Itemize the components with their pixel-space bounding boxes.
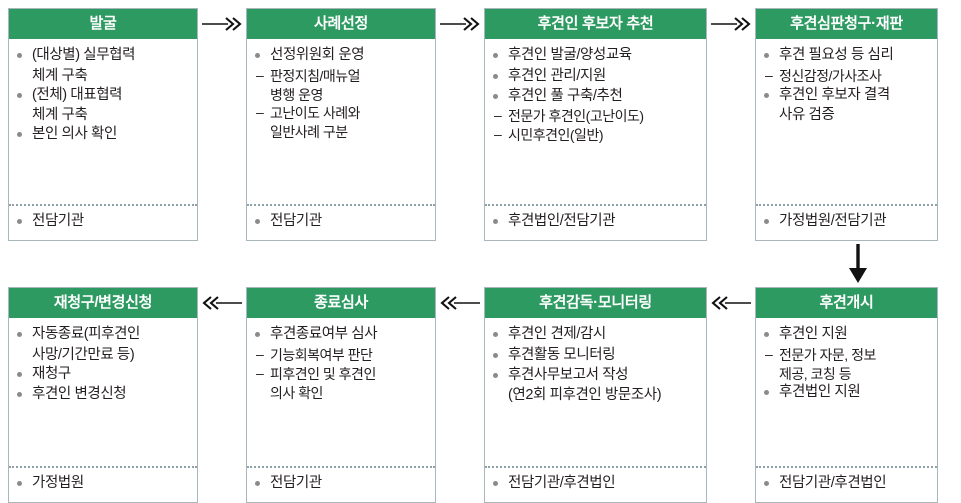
sub-list-item-label: 의사 확인: [270, 385, 323, 401]
responsible-agency-label: 전담기관/후견법인: [508, 475, 615, 491]
list-item-label: 체계 구축: [32, 107, 87, 123]
bullet-dot-icon: [764, 390, 769, 395]
list-item: 전담기관/후견법인: [491, 474, 700, 493]
list-item: 전담기관: [15, 212, 191, 231]
step-item-list-4: 후견 필요성 등 심리 –정신감정/가사조사 후견인 후보자 결격 사유 검증: [762, 46, 931, 125]
step-item-list-5: 후견인 지원 –전문가 자문, 정보 제공, 코칭 등 후견법인 지원: [762, 325, 931, 403]
list-item: 후견종료여부 심사: [253, 325, 429, 344]
sub-list-item-continuation: 의사 확인: [253, 384, 429, 402]
sub-list-item-continuation: 병행 운영: [253, 86, 429, 104]
sub-list-item-label: 병행 운영: [270, 87, 323, 103]
responsible-agency-label: 전담기관: [270, 475, 322, 491]
sub-list-item: –피후견인 및 후견인: [253, 365, 429, 383]
connector-arrow-2-3: [436, 8, 484, 39]
step-footer-7: 전담기관: [247, 466, 435, 501]
bullet-dot-icon: [255, 332, 260, 337]
step-body-8: 자동종료(피후견인 사망/기간만료 등) 재청구 후견인 변경신청: [9, 318, 197, 466]
step-footer-list-3: 후견법인/전담기관: [491, 212, 700, 231]
process-step-card-4[interactable]: 후견심판청구·재판 후견 필요성 등 심리 –정신감정/가사조사 후견인 후보자…: [755, 8, 938, 241]
sub-list-item-label: 전문가 자문, 정보: [779, 347, 876, 363]
list-item-label: 후견법인 지원: [779, 384, 860, 400]
list-item: 후견인 변경신청: [15, 385, 191, 404]
bullet-dot-icon: [493, 53, 498, 58]
list-item-label: 후견인 지원: [779, 326, 847, 342]
list-item-continuation: 체계 구축: [15, 106, 191, 125]
list-item: 가정법원: [15, 474, 191, 493]
dash-icon: –: [256, 345, 263, 363]
double-chevron-left-icon: [440, 295, 480, 311]
process-step-card-3[interactable]: 후견인 후보자 추천 후견인 발굴/양성교육 후견인 관리/지원 후견인 풀 구…: [484, 8, 707, 241]
list-item: 후견인 견제/감시: [491, 325, 700, 344]
list-item: 후견활동 모니터링: [491, 346, 700, 365]
list-item: 후견인 지원: [762, 325, 931, 344]
step-footer-5: 전담기관/후견법인: [756, 466, 937, 501]
list-item-label: 후견인 후보자 결격: [779, 87, 890, 103]
step-body-1: (대상별) 실무협력 체계 구축 (전체) 대표협력 체계 구축 본인 의사 확…: [9, 39, 197, 204]
list-item-label: (전체) 대표협력: [32, 87, 122, 103]
step-header-8: 재청구/변경신청: [9, 288, 197, 318]
list-item: 후견사무보고서 작성: [491, 366, 700, 385]
sub-list-item: –전문가 후견인(고난이도): [491, 107, 700, 125]
step-body-2: 선정위원회 운영 –판정지침/매뉴얼 병행 운영 –고난이도 사례와 일반사례 …: [247, 39, 435, 204]
bullet-dot-icon: [493, 373, 498, 378]
bullet-dot-icon: [17, 93, 22, 98]
bullet-dot-icon: [764, 481, 769, 486]
list-item-label: 본인 의사 확인: [32, 126, 117, 142]
bullet-dot-icon: [764, 93, 769, 98]
sub-list-item-continuation: 일반사례 구분: [253, 123, 429, 141]
bullet-dot-icon: [17, 219, 22, 224]
double-chevron-right-icon: [440, 16, 480, 32]
connector-arrow-6-7: [436, 287, 484, 318]
dash-icon: –: [494, 106, 501, 124]
sub-list-item: –전문가 자문, 정보: [762, 346, 931, 364]
sub-list-item-continuation: 제공, 코칭 등: [762, 365, 931, 383]
list-item: 선정위원회 운영: [253, 46, 429, 65]
list-item: (대상별) 실무협력: [15, 46, 191, 65]
step-item-list-8: 자동종료(피후견인 사망/기간만료 등) 재청구 후견인 변경신청: [15, 325, 191, 405]
step-header-6: 후견감독·모니터링: [485, 288, 706, 318]
list-item-label: 후견사무보고서 작성: [508, 367, 628, 383]
process-row-top: 발굴 (대상별) 실무협력 체계 구축 (전체) 대표협력 체계 구축 본인 의…: [0, 8, 961, 241]
process-step-card-5[interactable]: 후견개시 후견인 지원 –전문가 자문, 정보 제공, 코칭 등 후견법인 지원…: [755, 287, 938, 503]
step-header-5: 후견개시: [756, 288, 937, 318]
sub-list-item-label: 고난이도 사례와: [270, 105, 360, 121]
step-footer-list-8: 가정법원: [15, 474, 191, 493]
process-step-card-1[interactable]: 발굴 (대상별) 실무협력 체계 구축 (전체) 대표협력 체계 구축 본인 의…: [8, 8, 198, 241]
step-footer-6: 전담기관/후견법인: [485, 466, 706, 501]
list-item-label: 자동종료(피후견인: [32, 326, 140, 342]
sub-list-item: –고난이도 사례와: [253, 104, 429, 122]
responsible-agency-label: 전담기관: [32, 213, 84, 229]
list-item: 후견법인 지원: [762, 383, 931, 402]
step-footer-list-6: 전담기관/후견법인: [491, 474, 700, 493]
list-item-label: 후견인 관리/지원: [508, 68, 606, 84]
step-item-list-6: 후견인 견제/감시 후견활동 모니터링 후견사무보고서 작성 (연2회 피후견인…: [491, 325, 700, 405]
connector-arrow-1-2: [198, 8, 246, 39]
bullet-dot-icon: [255, 53, 260, 58]
bullet-dot-icon: [493, 74, 498, 79]
step-item-list-2: 선정위원회 운영 –판정지침/매뉴얼 병행 운영 –고난이도 사례와 일반사례 …: [253, 46, 429, 141]
connector-arrow-7-8: [198, 287, 246, 318]
bullet-dot-icon: [17, 332, 22, 337]
list-item: 후견 필요성 등 심리: [762, 46, 931, 65]
process-step-card-8[interactable]: 재청구/변경신청 자동종료(피후견인 사망/기간만료 등) 재청구 후견인 변경…: [8, 287, 198, 503]
list-item-label: 후견인 풀 구축/추천: [508, 88, 622, 104]
step-footer-2: 전담기관: [247, 204, 435, 239]
dash-icon: –: [256, 66, 263, 84]
bullet-dot-icon: [493, 94, 498, 99]
list-item-label: 사망/기간만료 등): [32, 347, 134, 363]
list-item-continuation: 사유 검증: [762, 106, 931, 125]
list-item-continuation: 사망/기간만료 등): [15, 346, 191, 365]
list-item: 가정법원/전담기관: [762, 212, 931, 231]
step-body-4: 후견 필요성 등 심리 –정신감정/가사조사 후견인 후보자 결격 사유 검증: [756, 39, 937, 204]
connector-arrow-4-5: [845, 244, 871, 289]
list-item-label: 선정위원회 운영: [270, 47, 364, 63]
step-footer-list-7: 전담기관: [253, 474, 429, 493]
sub-list-item-label: 전문가 후견인(고난이도): [508, 108, 644, 124]
sub-list-item: –기능회복여부 판단: [253, 346, 429, 364]
dash-icon: –: [765, 345, 772, 363]
step-item-list-3: 후견인 발굴/양성교육 후견인 관리/지원 후견인 풀 구축/추천 –전문가 후…: [491, 46, 700, 145]
list-item-continuation: (연2회 피후견인 방문조사): [491, 386, 700, 405]
responsible-agency-label: 가정법원: [32, 475, 84, 491]
bullet-dot-icon: [764, 332, 769, 337]
dash-icon: –: [765, 66, 772, 84]
dash-icon: –: [256, 364, 263, 382]
step-header-2: 사례선정: [247, 9, 435, 39]
dash-icon: –: [256, 103, 263, 121]
step-header-7: 종료심사: [247, 288, 435, 318]
step-body-7: 후견종료여부 심사 –기능회복여부 판단 –피후견인 및 후견인 의사 확인: [247, 318, 435, 466]
list-item-label: 후견인 변경신청: [32, 386, 126, 402]
process-flow-diagram: 발굴 (대상별) 실무협력 체계 구축 (전체) 대표협력 체계 구축 본인 의…: [0, 0, 961, 500]
responsible-agency-label: 가정법원/전담기관: [779, 213, 886, 229]
bullet-dot-icon: [17, 53, 22, 58]
list-item-label: 체계 구축: [32, 68, 87, 84]
process-step-card-6[interactable]: 후견감독·모니터링 후견인 견제/감시 후견활동 모니터링 후견사무보고서 작성…: [484, 287, 707, 503]
step-footer-1: 전담기관: [9, 204, 197, 239]
step-body-6: 후견인 견제/감시 후견활동 모니터링 후견사무보고서 작성 (연2회 피후견인…: [485, 318, 706, 466]
list-item-label: 후견인 견제/감시: [508, 326, 606, 342]
process-step-card-2[interactable]: 사례선정 선정위원회 운영 –판정지침/매뉴얼 병행 운영 –고난이도 사례와 …: [246, 8, 436, 241]
list-item-label: 후견인 발굴/양성교육: [508, 47, 632, 63]
responsible-agency-label: 후견법인/전담기관: [508, 213, 615, 229]
bullet-dot-icon: [17, 481, 22, 486]
step-header-4: 후견심판청구·재판: [756, 9, 937, 39]
sub-list-item-label: 일반사례 구분: [270, 124, 348, 140]
list-item-label: 후견 필요성 등 심리: [779, 47, 893, 63]
step-footer-8: 가정법원: [9, 466, 197, 501]
list-item-label: (연2회 피후견인 방문조사): [508, 387, 661, 403]
responsible-agency-label: 전담기관/후견법인: [779, 475, 886, 491]
list-item: (전체) 대표협력: [15, 86, 191, 105]
sub-list-item-label: 정신감정/가사조사: [779, 68, 881, 84]
sub-list-item-label: 판정지침/매뉴얼: [270, 68, 360, 84]
list-item: 본인 의사 확인: [15, 125, 191, 144]
step-body-5: 후견인 지원 –전문가 자문, 정보 제공, 코칭 등 후견법인 지원: [756, 318, 937, 466]
double-chevron-right-icon: [711, 16, 751, 32]
responsible-agency-label: 전담기관: [270, 213, 322, 229]
dash-icon: –: [494, 125, 501, 143]
bullet-dot-icon: [493, 219, 498, 224]
double-chevron-left-icon: [202, 295, 242, 311]
step-footer-list-1: 전담기관: [15, 212, 191, 231]
bullet-dot-icon: [764, 219, 769, 224]
bullet-dot-icon: [17, 392, 22, 397]
arrow-down-icon: [845, 244, 871, 284]
step-header-1: 발굴: [9, 9, 197, 39]
bullet-dot-icon: [493, 332, 498, 337]
sub-list-item: –정신감정/가사조사: [762, 67, 931, 85]
list-item-continuation: 체계 구축: [15, 67, 191, 86]
list-item: 후견인 발굴/양성교육: [491, 46, 700, 65]
list-item: 후견인 풀 구축/추천: [491, 87, 700, 106]
bullet-dot-icon: [17, 372, 22, 377]
connector-arrow-5-6: [707, 287, 755, 318]
list-item: 후견인 후보자 결격: [762, 86, 931, 105]
step-footer-list-5: 전담기관/후견법인: [762, 474, 931, 493]
sub-list-item-label: 시민후견인(일반): [508, 127, 603, 143]
list-item: 후견법인/전담기관: [491, 212, 700, 231]
bullet-dot-icon: [493, 353, 498, 358]
sub-list-item: –판정지침/매뉴얼: [253, 67, 429, 85]
list-item-label: (대상별) 실무협력: [32, 47, 135, 63]
sub-list-item-label: 제공, 코칭 등: [779, 366, 851, 382]
list-item: 전담기관/후견법인: [762, 474, 931, 493]
process-step-card-7[interactable]: 종료심사 후견종료여부 심사 –기능회복여부 판단 –피후견인 및 후견인 의사…: [246, 287, 436, 503]
step-footer-4: 가정법원/전담기관: [756, 204, 937, 239]
double-chevron-left-icon: [711, 295, 751, 311]
connector-arrow-3-4: [707, 8, 755, 39]
list-item-label: 재청구: [32, 366, 71, 382]
bullet-dot-icon: [255, 481, 260, 486]
bullet-dot-icon: [17, 132, 22, 137]
list-item: 전담기관: [253, 212, 429, 231]
step-footer-3: 후견법인/전담기관: [485, 204, 706, 239]
step-item-list-1: (대상별) 실무협력 체계 구축 (전체) 대표협력 체계 구축 본인 의사 확…: [15, 46, 191, 145]
step-body-3: 후견인 발굴/양성교육 후견인 관리/지원 후견인 풀 구축/추천 –전문가 후…: [485, 39, 706, 204]
list-item: 전담기관: [253, 474, 429, 493]
list-item: 재청구: [15, 365, 191, 384]
bullet-dot-icon: [255, 219, 260, 224]
list-item: 자동종료(피후견인: [15, 325, 191, 344]
list-item-label: 후견활동 모니터링: [508, 347, 615, 363]
sub-list-item: –시민후견인(일반): [491, 126, 700, 144]
process-row-bottom: 재청구/변경신청 자동종료(피후견인 사망/기간만료 등) 재청구 후견인 변경…: [0, 287, 961, 503]
double-chevron-right-icon: [202, 16, 242, 32]
sub-list-item-label: 피후견인 및 후견인: [270, 366, 376, 382]
step-header-3: 후견인 후보자 추천: [485, 9, 706, 39]
step-footer-list-4: 가정법원/전담기관: [762, 212, 931, 231]
bullet-dot-icon: [493, 481, 498, 486]
step-footer-list-2: 전담기관: [253, 212, 429, 231]
bullet-dot-icon: [764, 53, 769, 58]
list-item-label: 사유 검증: [779, 107, 834, 123]
step-item-list-7: 후견종료여부 심사 –기능회복여부 판단 –피후견인 및 후견인 의사 확인: [253, 325, 429, 402]
list-item: 후견인 관리/지원: [491, 67, 700, 86]
sub-list-item-label: 기능회복여부 판단: [270, 347, 372, 363]
list-item-label: 후견종료여부 심사: [270, 326, 377, 342]
